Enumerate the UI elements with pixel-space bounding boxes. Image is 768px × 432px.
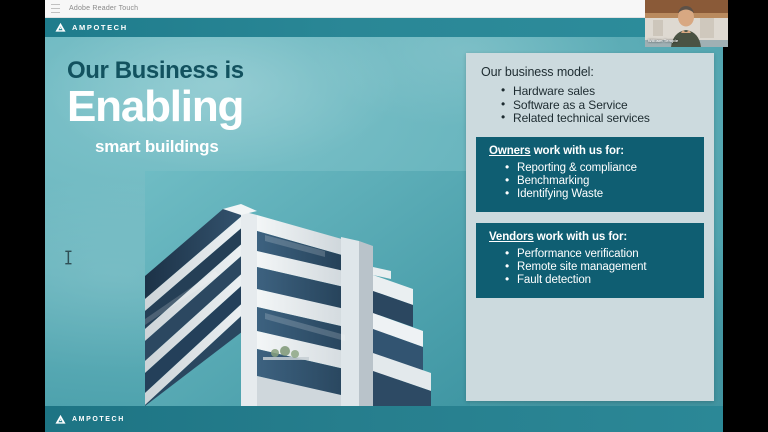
list-item: Reporting & compliance	[501, 162, 695, 175]
list-item: Software as a Service	[497, 99, 704, 113]
brand-bar-bottom: AMPOTECH	[45, 406, 723, 432]
ampotech-triangle-logo-icon	[55, 22, 66, 33]
webcam-participant-name: William Temple	[648, 38, 678, 43]
list-item: Performance verification	[501, 248, 695, 261]
text-ibeam-cursor	[64, 250, 73, 265]
vendors-box: Vendors work with us for: Performance ve…	[476, 223, 704, 298]
vendors-box-heading-rest: work with us for:	[534, 231, 627, 243]
list-item: Related technical services	[497, 112, 704, 126]
vendors-box-heading-underlined: Vendors	[489, 231, 534, 243]
panel-title: Our business model:	[481, 65, 704, 79]
app-title-bar: Adobe Reader Touch	[45, 0, 723, 18]
presentation-slide: AMPOTECH Our Business is Enabling smart …	[45, 18, 723, 432]
brand-bar-top: AMPOTECH	[45, 18, 723, 37]
owners-box-heading-underlined: Owners	[489, 145, 531, 157]
vendors-box-heading: Vendors work with us for:	[489, 231, 695, 243]
business-model-bullet-list: Hardware sales Software as a Service Rel…	[497, 85, 704, 126]
list-item: Hardware sales	[497, 85, 704, 99]
owners-bullet-list: Reporting & compliance Benchmarking Iden…	[501, 162, 695, 201]
headline-line-3: smart buildings	[95, 137, 367, 157]
owners-box-heading: Owners work with us for:	[489, 145, 695, 157]
hamburger-icon[interactable]	[51, 4, 60, 13]
brand-name-top: AMPOTECH	[72, 23, 128, 32]
brand-name-bottom: AMPOTECH	[72, 416, 125, 423]
headline-line-1: Our Business is	[67, 58, 367, 83]
list-item: Remote site management	[501, 261, 695, 274]
headline-line-2: Enabling	[67, 85, 367, 129]
app-window: Adobe Reader Touch AMPOTECH Our Business…	[45, 0, 723, 432]
owners-box-heading-rest: work with us for:	[531, 145, 624, 157]
webcam-video-tile[interactable]: William Temple	[645, 0, 728, 47]
list-item: Benchmarking	[501, 175, 695, 188]
list-item: Identifying Waste	[501, 188, 695, 201]
owners-box: Owners work with us for: Reporting & com…	[476, 137, 704, 212]
slide-headline: Our Business is Enabling smart buildings	[67, 58, 367, 157]
business-model-panel: Our business model: Hardware sales Softw…	[466, 53, 714, 401]
app-title-label: Adobe Reader Touch	[69, 5, 138, 12]
vendors-bullet-list: Performance verification Remote site man…	[501, 248, 695, 287]
list-item: Fault detection	[501, 274, 695, 287]
screen-root: Adobe Reader Touch AMPOTECH Our Business…	[0, 0, 768, 432]
ampotech-triangle-logo-icon	[55, 414, 66, 425]
office-building-photo	[145, 171, 470, 406]
